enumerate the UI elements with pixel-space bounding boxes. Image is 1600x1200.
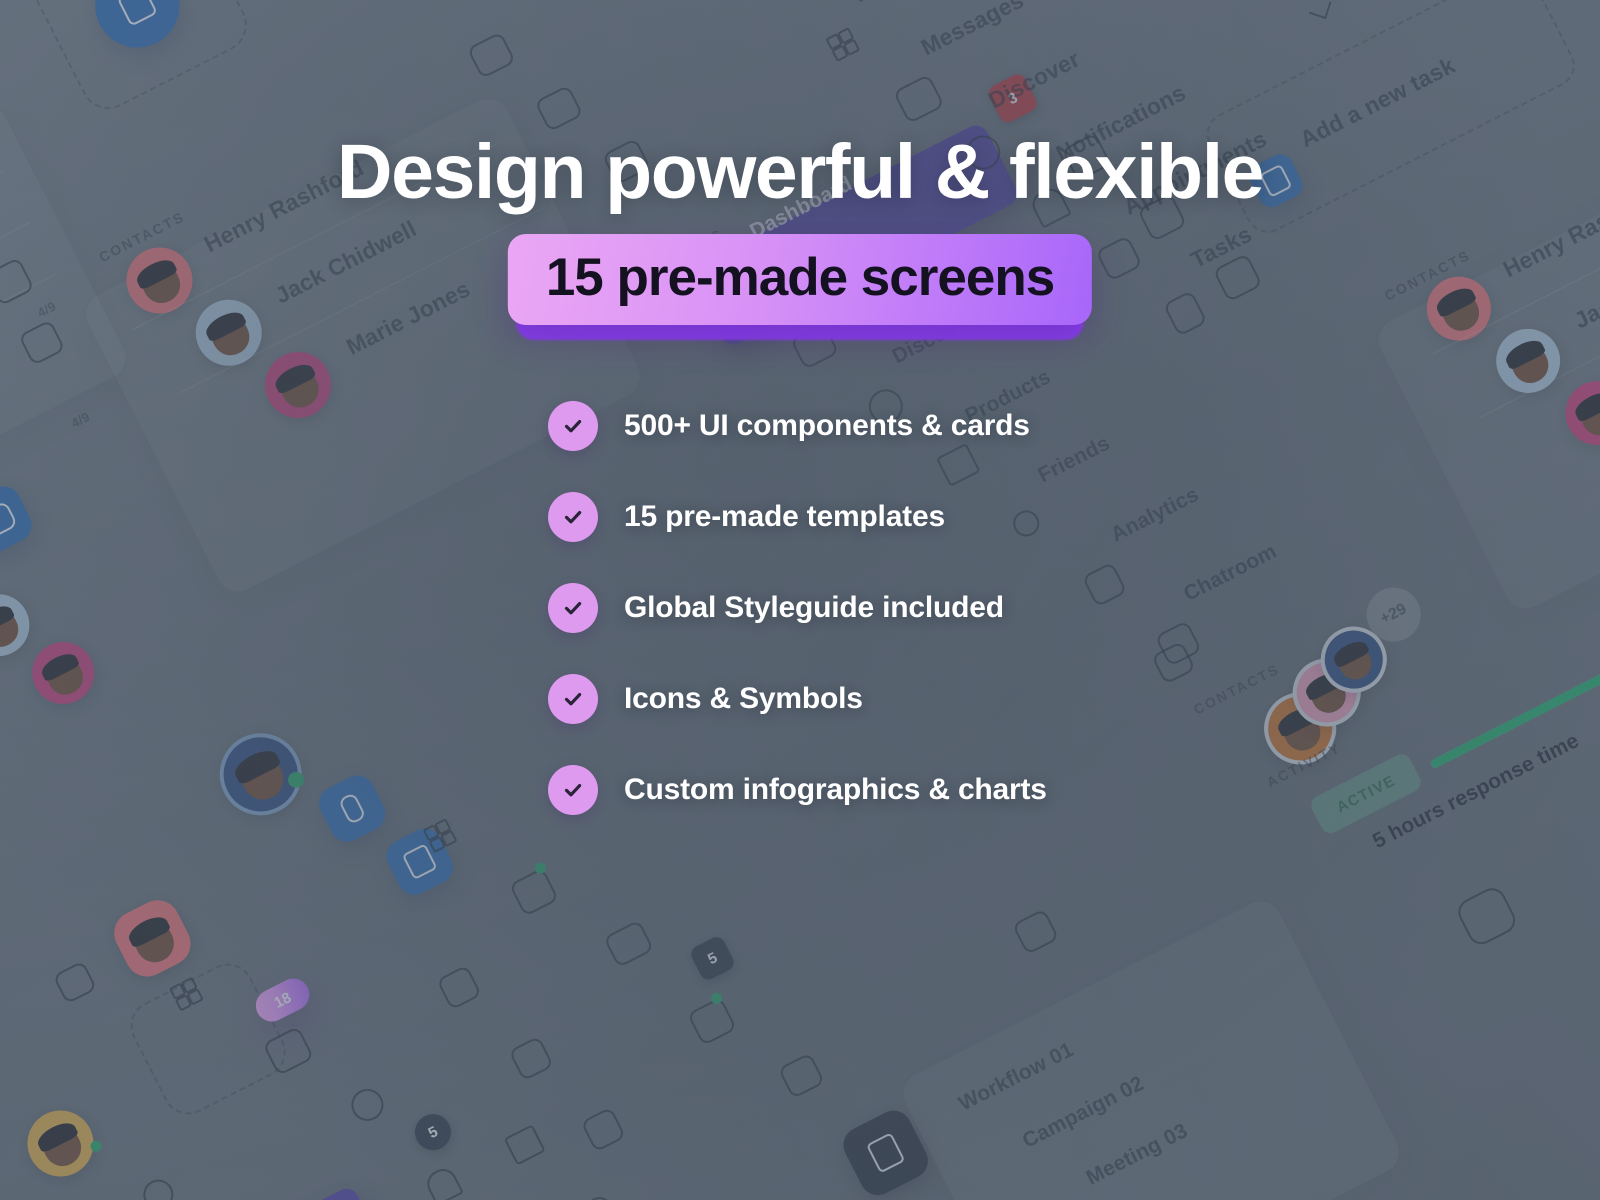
badge-container: 15 pre-made screens xyxy=(508,234,1092,325)
check-icon xyxy=(548,583,598,633)
feature-item: 500+ UI components & cards xyxy=(548,398,1047,454)
page-title: Design powerful & flexible xyxy=(0,128,1600,217)
hero-foreground: Design powerful & flexible 15 pre-made s… xyxy=(0,0,1600,1200)
feature-list: 500+ UI components & cards 15 pre-made t… xyxy=(548,398,1047,853)
feature-item: Custom infographics & charts xyxy=(548,762,1047,818)
check-icon xyxy=(548,765,598,815)
check-icon xyxy=(548,674,598,724)
feature-label: Global Styleguide included xyxy=(624,591,1004,625)
hero-stage: Published Draft Under Review Earnings 8 … xyxy=(0,0,1600,1200)
screens-count-badge: 15 pre-made screens xyxy=(508,234,1092,325)
feature-label: Icons & Symbols xyxy=(624,682,863,716)
screens-count-badge-label: 15 pre-made screens xyxy=(546,251,1054,305)
feature-item: 15 pre-made templates xyxy=(548,489,1047,545)
check-icon xyxy=(548,492,598,542)
feature-label: Custom infographics & charts xyxy=(624,773,1047,807)
feature-item: Icons & Symbols xyxy=(548,671,1047,727)
check-icon xyxy=(548,401,598,451)
feature-item: Global Styleguide included xyxy=(548,580,1047,636)
feature-label: 500+ UI components & cards xyxy=(624,409,1030,443)
feature-label: 15 pre-made templates xyxy=(624,500,945,534)
